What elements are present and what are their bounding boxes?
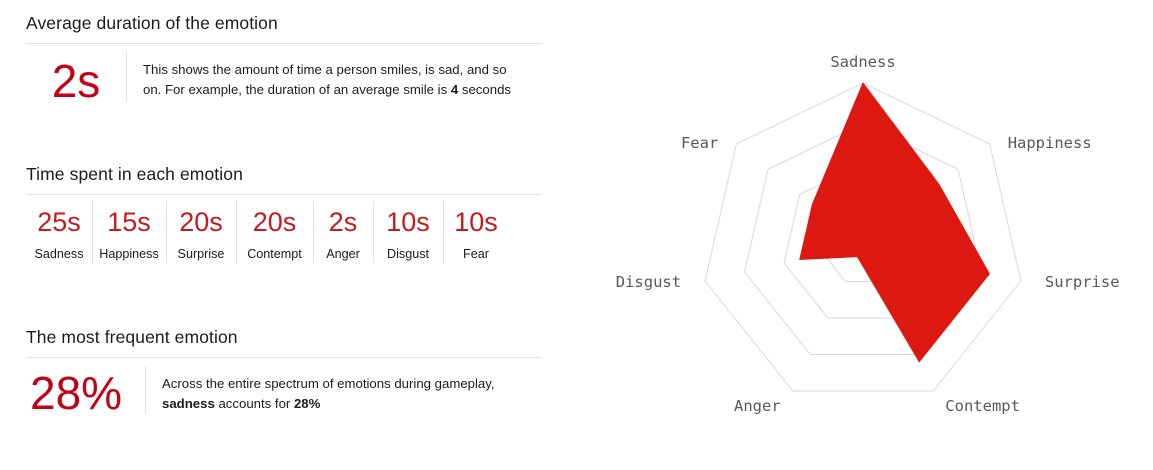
time-label: Disgust: [387, 248, 429, 261]
time-cell-surprise: 20sSurprise: [166, 195, 236, 267]
radar-series-polygon: [800, 83, 990, 362]
section-time-spent: Time spent in each emotion 25sSadness15s…: [26, 163, 542, 267]
time-cell-fear: 10sFear: [443, 195, 509, 267]
section-title-average-duration: Average duration of the emotion: [26, 12, 542, 34]
time-cell-anger: 2sAnger: [313, 195, 373, 267]
time-label: Happiness: [99, 248, 159, 261]
time-value: 20s: [179, 209, 223, 236]
time-label: Sadness: [34, 248, 83, 261]
time-label: Surprise: [178, 248, 225, 261]
duration-desc-text-2: seconds: [458, 82, 511, 97]
radar-axis-label-surprise: Surprise: [1045, 273, 1120, 291]
time-value: 15s: [107, 209, 151, 236]
radar-chart-svg: SadnessHappinessSurpriseContemptAngerDis…: [580, 0, 1153, 470]
time-label: Fear: [463, 248, 489, 261]
emotion-radar-chart: SadnessHappinessSurpriseContemptAngerDis…: [580, 0, 1153, 470]
section-title-most-frequent: The most frequent emotion: [26, 326, 542, 348]
section-divider: [26, 43, 542, 44]
time-label: Contempt: [247, 248, 302, 261]
section-average-duration: Average duration of the emotion 2s This …: [26, 12, 542, 104]
radar-axis-label-contempt: Contempt: [945, 397, 1020, 415]
most-frequent-description: Across the entire spectrum of emotions d…: [146, 364, 542, 413]
average-duration-stat: 2s This shows the amount of time a perso…: [26, 50, 542, 104]
time-value: 10s: [454, 209, 498, 236]
most-frequent-stat: 28% Across the entire spectrum of emotio…: [26, 364, 542, 416]
radar-axis-label-disgust: Disgust: [616, 273, 681, 291]
section-most-frequent: The most frequent emotion 28% Across the…: [26, 326, 542, 416]
time-cell-sadness: 25sSadness: [26, 195, 92, 267]
time-value: 20s: [253, 209, 297, 236]
average-duration-value: 2s: [26, 50, 126, 104]
radar-axis-label-fear: Fear: [681, 134, 718, 152]
frequent-desc-text-2: accounts for: [215, 396, 294, 411]
section-divider: [26, 357, 542, 358]
radar-data-polygon: [800, 83, 990, 362]
radar-axis-label-anger: Anger: [734, 397, 781, 415]
radar-axis-label-happiness: Happiness: [1008, 134, 1092, 152]
time-spent-table: 25sSadness15sHappiness20sSurprise20sCont…: [26, 195, 542, 267]
most-frequent-value: 28%: [26, 364, 145, 416]
frequent-desc-bold-1: sadness: [162, 396, 215, 411]
time-cell-happiness: 15sHappiness: [92, 195, 166, 267]
stats-panel: Average duration of the emotion 2s This …: [0, 0, 580, 470]
time-value: 10s: [386, 209, 430, 236]
average-duration-description: This shows the amount of time a person s…: [127, 50, 523, 99]
time-value: 25s: [37, 209, 81, 236]
time-cell-contempt: 20sContempt: [236, 195, 313, 267]
section-title-time-spent: Time spent in each emotion: [26, 163, 542, 185]
time-cell-disgust: 10sDisgust: [373, 195, 443, 267]
frequent-desc-text-1: Across the entire spectrum of emotions d…: [162, 376, 495, 391]
time-label: Anger: [326, 248, 360, 261]
frequent-desc-bold-2: 28%: [294, 396, 320, 411]
time-value: 2s: [329, 209, 358, 236]
radar-axis-label-sadness: Sadness: [830, 53, 895, 71]
